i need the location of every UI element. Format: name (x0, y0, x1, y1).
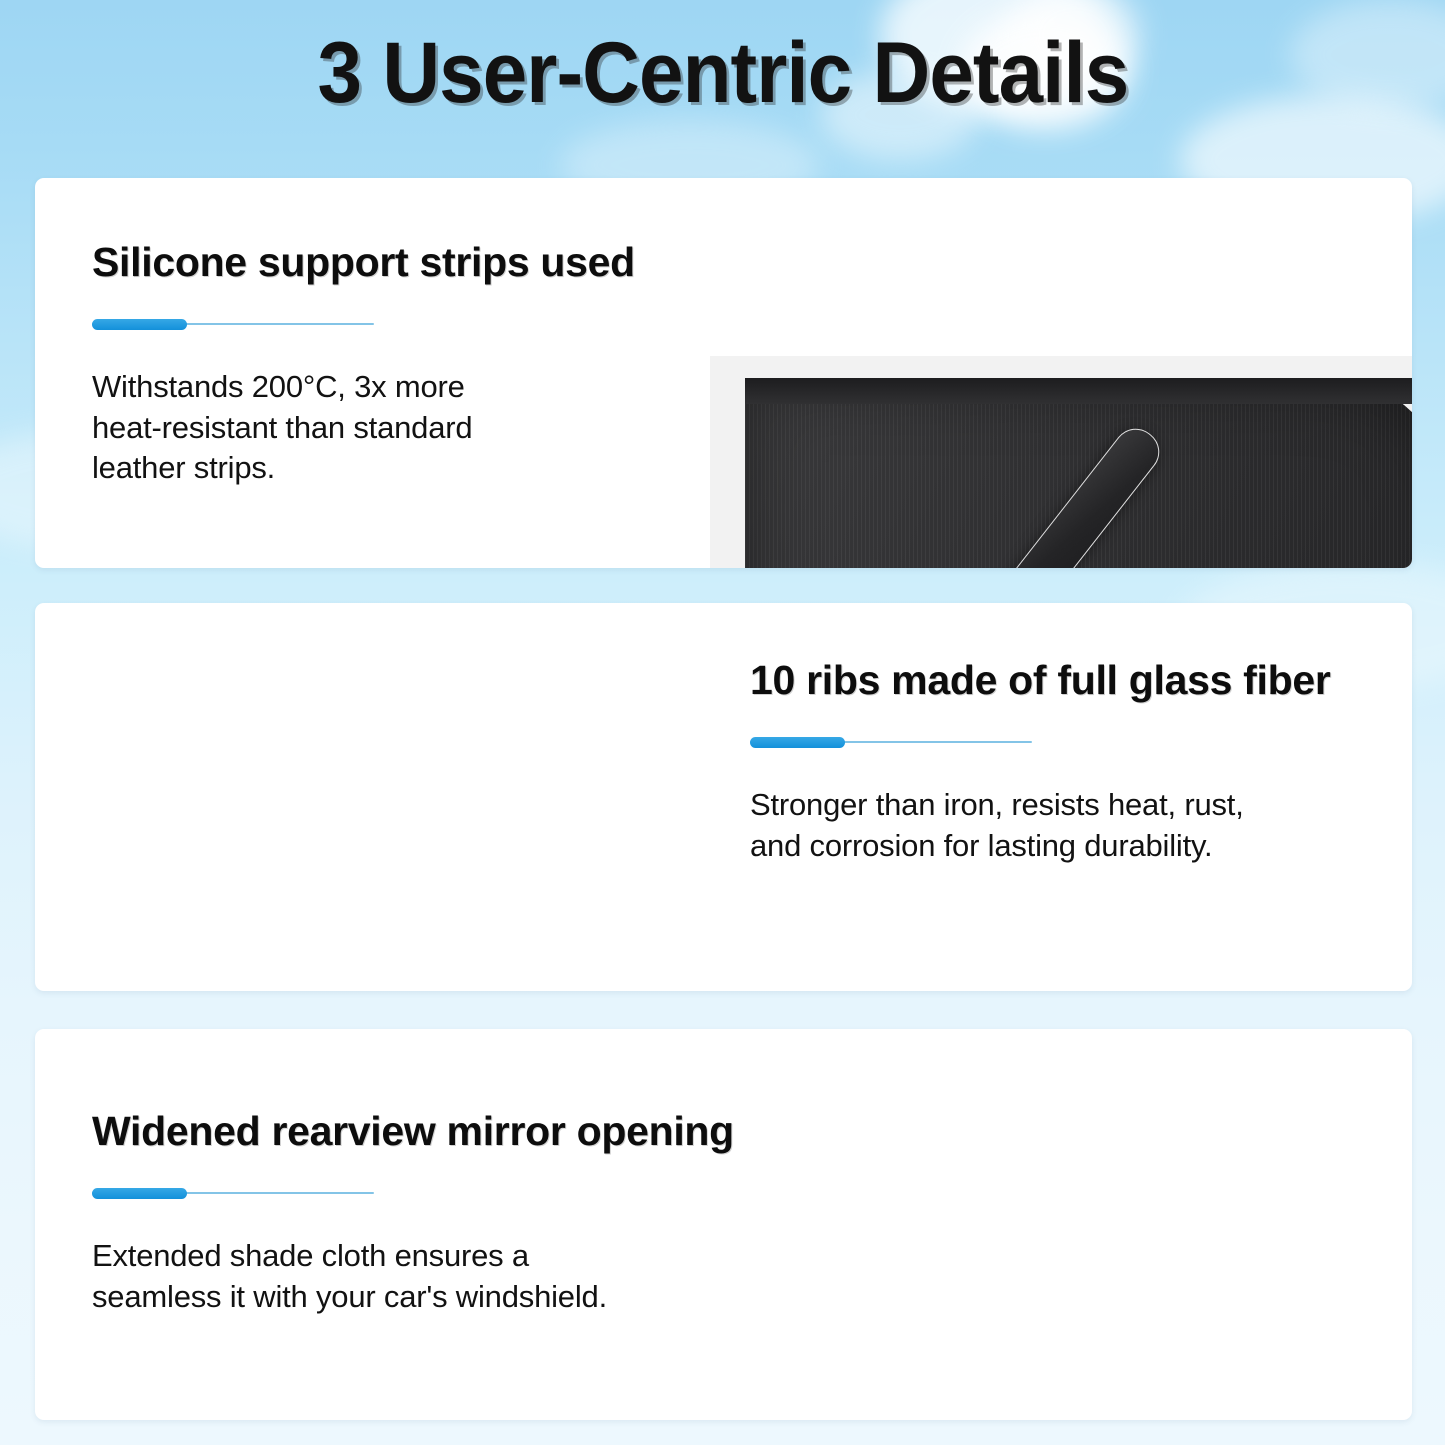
page-title-container: 3 User-Centric Details (0, 30, 1445, 116)
feature-card-3-heading: Widened rearview mirror opening (92, 1109, 734, 1155)
sunshade-corner-photo (745, 378, 1412, 568)
feature-card-1-body: Withstands 200°C, 3x more heat-resistant… (92, 367, 635, 489)
infographic-page: 3 User-Centric Details Silicone support … (0, 0, 1445, 1445)
feature-card-2: 10 ribs made of full glass fiber Stronge… (35, 603, 1412, 991)
feature-card-2-body: Stronger than iron, resists heat, rust, … (750, 785, 1331, 866)
feature-card-3-divider (92, 1188, 374, 1198)
feature-card-3-text: Widened rearview mirror opening Extended… (92, 1109, 734, 1317)
feature-card-2-divider (750, 737, 1032, 747)
divider-accent-segment (750, 737, 845, 748)
feature-card-1-heading: Silicone support strips used (92, 240, 635, 286)
feature-card-3-body: Extended shade cloth ensures a seamless … (92, 1236, 734, 1317)
feature-card-2-text: 10 ribs made of full glass fiber Stronge… (750, 658, 1331, 866)
feature-card-2-heading: 10 ribs made of full glass fiber (750, 658, 1331, 704)
feature-card-1-image (710, 356, 1412, 568)
feature-card-1-divider (92, 319, 374, 329)
divider-accent-segment (92, 1188, 187, 1199)
feature-card-1-text: Silicone support strips used Withstands … (92, 240, 635, 489)
page-title: 3 User-Centric Details (312, 30, 1134, 116)
feature-card-1: Silicone support strips used Withstands … (35, 178, 1412, 568)
feature-card-3: Widened rearview mirror opening Extended… (35, 1029, 1412, 1420)
divider-accent-segment (92, 319, 187, 330)
